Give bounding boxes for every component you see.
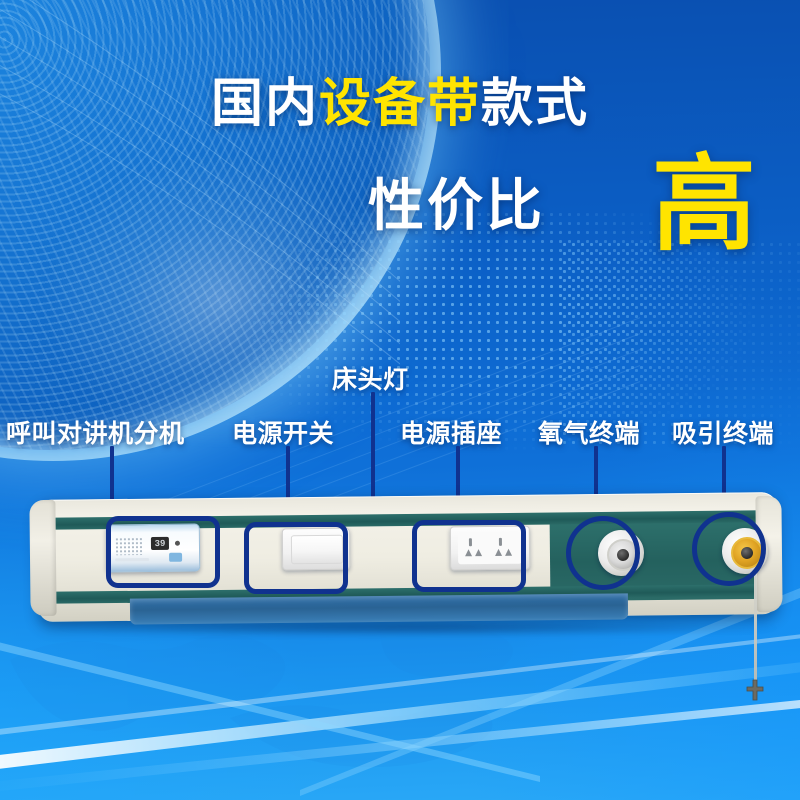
headline-emphasis-char: 高 [652,153,756,257]
callout-label-suction-outlet: 吸引终端 [672,414,774,450]
headline-part-2: 款式 [481,75,589,133]
highlight-suction-outlet [692,512,766,586]
promo-banner: 国内设备带款式 性价比 高 呼叫对讲机分机 电源开关 床头灯 电源插座 氧气终端… [0,0,800,800]
panel-front-lip [130,593,628,624]
headline-part-1: 国内 [211,75,319,133]
pull-cord [754,570,757,682]
callout-label-call-intercom: 呼叫对讲机分机 [6,414,185,450]
headline-line-1: 国内设备带款式 [0,78,800,130]
highlight-power-switch [244,522,348,594]
headline-line-2: 性价比 [368,178,545,234]
callout-label-oxygen-outlet: 氧气终端 [538,414,640,450]
headline-accent: 设备带 [319,75,481,133]
panel-end-cap-left [29,500,56,616]
callout-label-power-socket: 电源插座 [400,414,502,450]
callout-label-power-switch: 电源开关 [232,414,334,450]
callout-label-bed-lamp: 床头灯 [332,360,409,396]
headline-block: 国内设备带款式 性价比 高 [0,78,800,130]
highlight-call-intercom [106,516,220,588]
highlight-oxygen-outlet [566,516,640,590]
pull-hook-icon[interactable] [742,678,768,704]
highlight-power-socket [412,520,526,592]
